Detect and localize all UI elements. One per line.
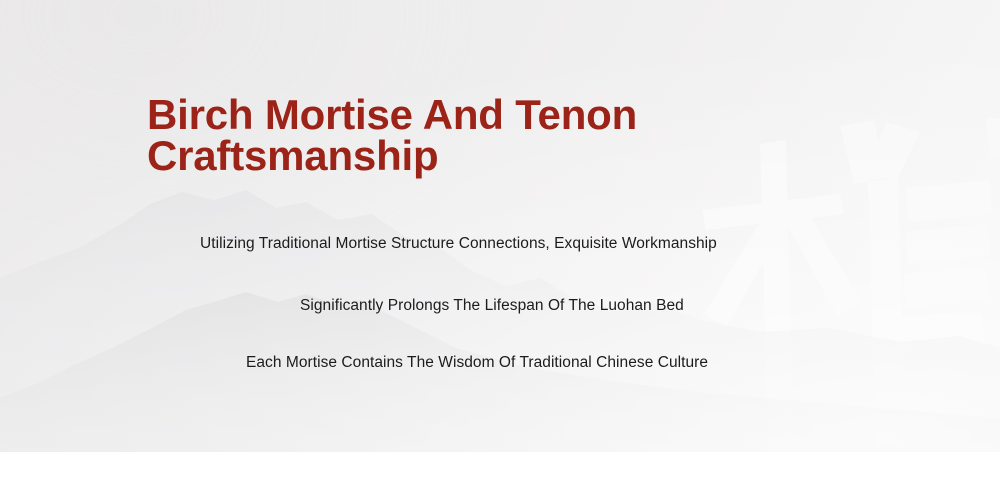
banner-content: Birch Mortise And Tenon Craftsmanship Ut… [0,0,1000,452]
feature-line-3: Each Mortise Contains The Wisdom Of Trad… [246,352,886,373]
page-footer-space [0,452,1000,496]
feature-line-1: Utilizing Traditional Mortise Structure … [200,233,728,254]
promo-banner: Birch Mortise And Tenon Craftsmanship Ut… [0,0,1000,452]
page-title: Birch Mortise And Tenon Craftsmanship [147,94,707,176]
feature-line-2: Significantly Prolongs The Lifespan Of T… [300,295,780,316]
